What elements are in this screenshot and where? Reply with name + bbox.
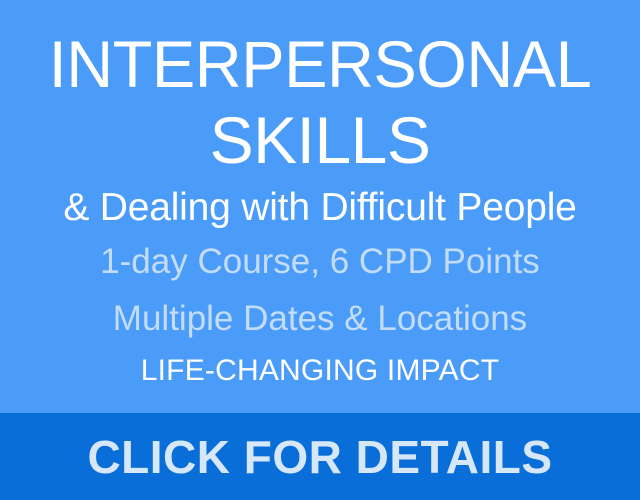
course-detail-dates-locations: Multiple Dates & Locations — [0, 298, 640, 340]
course-advertisement-banner[interactable]: INTERPERSONAL SKILLS & Dealing with Diff… — [0, 0, 640, 500]
headline-line-2: SKILLS — [0, 103, 640, 177]
course-detail-duration-cpd: 1-day Course, 6 CPD Points — [0, 241, 640, 283]
impact-statement: LIFE-CHANGING IMPACT — [0, 352, 640, 390]
headline-line-1: INTERPERSONAL — [5, 27, 635, 101]
subheadline: & Dealing with Difficult People — [0, 185, 640, 231]
cta-label: CLICK FOR DETAILS — [87, 431, 552, 483]
click-for-details-button[interactable]: CLICK FOR DETAILS — [0, 413, 640, 500]
ad-content-area: INTERPERSONAL SKILLS & Dealing with Diff… — [0, 0, 640, 413]
